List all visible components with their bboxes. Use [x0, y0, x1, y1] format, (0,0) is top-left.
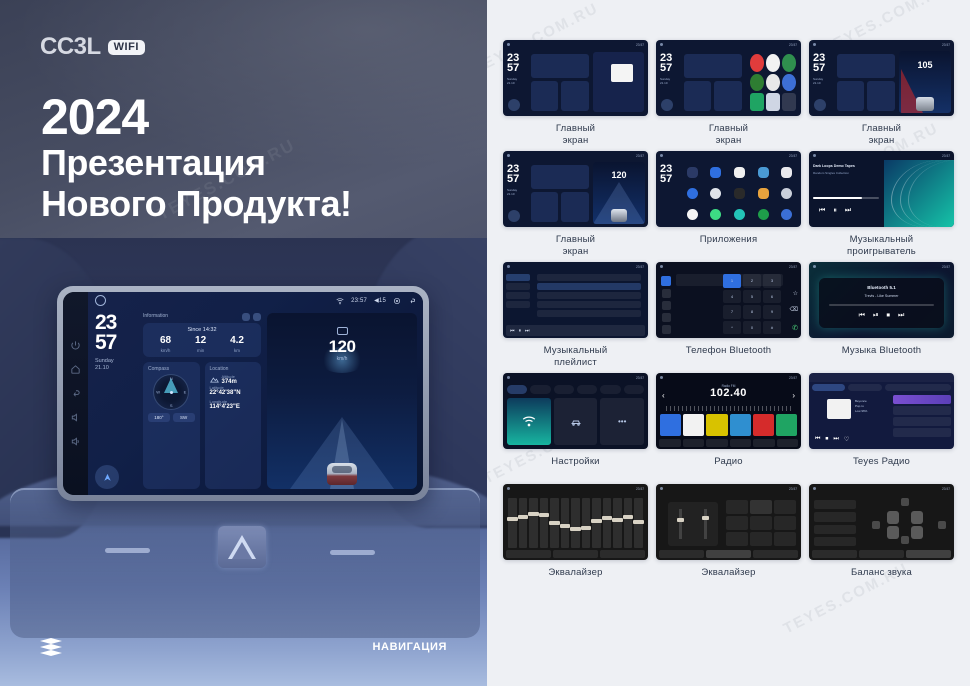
preset-button[interactable] — [774, 500, 796, 514]
app-icon[interactable] — [710, 188, 721, 199]
stop-icon: ⏹ — [887, 312, 891, 320]
key[interactable]: 4 — [723, 290, 741, 304]
app-icon[interactable] — [710, 167, 721, 178]
navigation-label: НАВИГАЦИЯ — [373, 641, 447, 653]
app-icon[interactable] — [687, 188, 698, 199]
volume-down-icon[interactable] — [70, 412, 81, 423]
stat-item: 68 km/h — [160, 336, 171, 353]
bt-track: Trevls - Like Summer — [819, 294, 944, 298]
speed-value: 105 — [917, 60, 932, 70]
location-label: Location — [210, 366, 257, 372]
eq-sliders[interactable] — [668, 502, 718, 546]
speed-value: 120 — [611, 170, 626, 180]
balance-right-button[interactable] — [938, 521, 946, 529]
gallery-item[interactable]: 23:57 2357 — [656, 151, 801, 258]
key[interactable]: # — [763, 321, 781, 335]
app-icon[interactable] — [710, 209, 721, 220]
status-time: 23:57 — [351, 298, 367, 304]
location-widget[interactable]: Location Altitude 374m — [205, 362, 262, 489]
equalizer-toolbar[interactable] — [659, 550, 798, 558]
caption: Приложения — [700, 234, 758, 258]
since-label: Since 14:32 — [148, 327, 256, 333]
seat-front-left — [887, 511, 899, 524]
preset[interactable] — [660, 414, 681, 436]
stat-unit: km — [230, 348, 244, 353]
stat-item: 12 min — [195, 336, 206, 353]
wifi-tile[interactable] — [507, 398, 551, 445]
wifi-badge: WIFI — [108, 40, 145, 55]
gallery-item[interactable]: 23:57 — [656, 484, 801, 591]
radio-frequency: 102.40 — [656, 387, 801, 399]
next-icon: ⏭ — [898, 312, 904, 320]
app-icon[interactable] — [758, 167, 769, 178]
radio-toolbar[interactable] — [659, 439, 798, 447]
volume-up-icon[interactable] — [70, 436, 81, 447]
thumbnail-home-apps[interactable]: 23:57 2357 Sunday21.10 — [656, 40, 801, 116]
key[interactable]: 1 — [723, 274, 741, 288]
album-art — [827, 399, 851, 419]
preset[interactable] — [706, 414, 727, 436]
compass-mark-w: W — [156, 390, 160, 395]
seat-rear-right — [911, 526, 923, 539]
caption: Музыкальныйпроигрыватель — [847, 234, 916, 258]
key[interactable]: 5 — [743, 290, 761, 304]
favorite-icon[interactable]: ☆ — [793, 290, 798, 297]
eq-band[interactable] — [540, 498, 549, 548]
key[interactable]: 8 — [743, 305, 761, 319]
previous-icon: ⏮ — [859, 312, 865, 320]
gallery-item[interactable]: 23:57 1 2 3 4 5 6 — [656, 262, 801, 369]
caption: Музыкальныйплейлист — [544, 345, 608, 369]
previous-icon: ⏮ — [510, 328, 515, 334]
navigation-shortcut-button[interactable] — [95, 465, 119, 489]
thumbnail-home-nav[interactable]: 23:57 2357 Sunday21.10 120 — [503, 151, 648, 227]
eq-band[interactable] — [571, 498, 580, 548]
playlist-rows[interactable] — [537, 274, 645, 324]
app-icon[interactable] — [781, 167, 792, 178]
hazard-button[interactable] — [218, 526, 266, 568]
layers-icon[interactable] — [40, 638, 62, 656]
expand-icon[interactable] — [253, 313, 261, 321]
gallery-item[interactable]: 23:57 2357 Sunday21.10 Главныйэкран — [656, 40, 801, 147]
settings-icon[interactable] — [393, 297, 401, 305]
settings-icon[interactable] — [662, 325, 671, 334]
preset-button[interactable] — [750, 516, 772, 530]
latitude-value: 22°42'38"N — [210, 390, 257, 396]
mini-player[interactable]: ⏮⏸⏭ — [506, 325, 645, 336]
play-pause-icon: ⏯ — [873, 312, 879, 320]
stat-value: 68 — [160, 336, 171, 346]
app-icon[interactable] — [734, 188, 745, 199]
clock-minutes: 57 — [95, 333, 137, 353]
preset[interactable] — [730, 414, 751, 436]
clock-hours: 23 — [95, 313, 137, 333]
app-icon[interactable] — [758, 188, 769, 199]
track-title: Dark Loops Demo Tapes — [813, 164, 879, 168]
thumbnail-bt-music[interactable]: 23:57 Bluetooth 5.1 Trevls - Like Summer… — [809, 262, 954, 338]
balance-up-button[interactable] — [901, 498, 909, 506]
playback-controls[interactable]: ⏮⏹⏭♡ — [815, 436, 849, 443]
caption: Телефон Bluetooth — [686, 345, 772, 369]
stat-value: 4.2 — [230, 336, 244, 346]
eq-band[interactable] — [550, 498, 559, 548]
playlist-sidebar[interactable] — [506, 274, 534, 324]
thumbnail-app-drawer[interactable]: 23:57 2357 — [656, 151, 801, 227]
car-settings-tile[interactable] — [554, 398, 598, 445]
driving-view-widget[interactable]: 120 km/h — [267, 313, 417, 489]
thumbnail-music-player[interactable]: 23:57 Dark Loops Demo Tapes Random Singl… — [809, 151, 954, 227]
headline-year: 2024 — [41, 92, 352, 143]
mountain-icon — [210, 376, 219, 383]
key[interactable]: 3 — [763, 274, 781, 288]
teyes-list[interactable] — [893, 395, 951, 446]
eq-band[interactable] — [592, 498, 601, 548]
pause-icon[interactable]: ⏸ — [833, 207, 837, 215]
presentation-slide: TEYES.COM.RU TEYES.COM.RU TEYES.COM.RU C… — [0, 0, 970, 686]
compass-direction: SW — [173, 413, 195, 422]
preset[interactable] — [753, 414, 774, 436]
gallery-item[interactable]: 23:57 Dark Loops Demo Tapes Random Singl… — [809, 151, 954, 258]
information-widget: Information Since 14:32 — [143, 313, 261, 357]
speed-unit: km/h — [267, 356, 417, 362]
equalizer-toolbar[interactable] — [506, 550, 645, 558]
gallery-item[interactable]: 23:57 — [503, 484, 648, 591]
teyes-tabs[interactable] — [812, 384, 951, 391]
eq-band[interactable] — [519, 498, 528, 548]
call-log-icon[interactable] — [662, 313, 671, 322]
thumbnail-teyes-radio[interactable]: BeyoncePop.ruLow 96% ⏮⏹⏭♡ — [809, 373, 954, 449]
preset-button[interactable] — [726, 532, 748, 546]
eq-band[interactable] — [561, 498, 570, 548]
clock-widget: 23 57 Sunday 21.10 — [95, 313, 137, 489]
caption: Teyes Радио — [853, 456, 910, 480]
preset[interactable] — [683, 414, 704, 436]
thumbnail-sound-balance[interactable]: 23:57 — [809, 484, 954, 560]
eq-band[interactable] — [634, 498, 643, 548]
gallery-item[interactable]: 23:57 2357 Sunday21.10 Главныйэкран — [503, 40, 648, 147]
eq-band[interactable] — [603, 498, 612, 548]
clock-day: Sunday — [95, 358, 137, 365]
app-icon[interactable] — [734, 167, 745, 178]
dialpad-icon[interactable] — [661, 276, 671, 286]
eq-band[interactable] — [613, 498, 622, 548]
thumbnail-home-drive[interactable]: 23:57 2357 Sunday21.10 105 — [809, 40, 954, 116]
key[interactable]: 9 — [763, 305, 781, 319]
status-bar: 23:57 ◀15 — [88, 292, 423, 309]
balance-toolbar[interactable] — [812, 550, 951, 558]
visualizer — [884, 160, 954, 227]
next-icon: ⏭ — [833, 436, 838, 443]
car-interior: 23:57 ◀15 23 57 Sunday — [0, 238, 487, 686]
caption: Настройки — [551, 456, 599, 480]
head-unit-device: 23:57 ◀15 23 57 Sunday — [57, 286, 429, 501]
gallery-item[interactable]: 23:57 Bluetooth 5.1 Trevls - Like Summer… — [809, 262, 954, 369]
preset-button[interactable] — [774, 516, 796, 530]
headline-line2: Нового Продукта! — [41, 184, 352, 225]
balance-options[interactable] — [814, 500, 856, 546]
gallery-item[interactable]: 23:57 Radio FM 102.40 ‹ › — [656, 373, 801, 480]
navigation-shortcut-button[interactable] — [508, 99, 520, 111]
key[interactable]: 0 — [743, 321, 761, 335]
gallery-item[interactable]: BeyoncePop.ruLow 96% ⏮⏹⏭♡ Teyes Радио — [809, 373, 954, 480]
compass-mark-e: E — [184, 390, 187, 395]
compass-dial: N E S W — [153, 374, 189, 410]
progress-bar[interactable] — [813, 197, 862, 199]
speed-value: 120 — [267, 338, 417, 355]
compass-mark-n: N — [170, 376, 173, 381]
clock-date: 21.10 — [95, 365, 137, 372]
headline-line1: Презентация — [41, 143, 352, 184]
drawer-clock: 2357 — [660, 164, 672, 185]
headline: 2024 Презентация Нового Продукта! — [41, 92, 352, 224]
caption: Главныйэкран — [709, 123, 748, 147]
balance-pad[interactable] — [870, 498, 948, 548]
previous-station-icon[interactable]: ‹ — [662, 391, 665, 400]
gallery-item[interactable]: 23:57 ⏮⏸⏭ Музыкальныйплейлист — [503, 262, 648, 369]
app-icon[interactable] — [781, 209, 792, 220]
preset-button[interactable] — [726, 516, 748, 530]
playback-controls[interactable]: ⏮⏯⏹⏭ — [819, 312, 944, 320]
caption: Эквалайзер — [701, 567, 755, 591]
home-icon[interactable] — [70, 364, 81, 375]
eq-band[interactable] — [529, 498, 538, 548]
hazard-triangle-inner — [232, 542, 252, 559]
app-icon[interactable] — [687, 209, 698, 220]
thumbnail-equalizer-presets[interactable]: 23:57 — [656, 484, 801, 560]
navigation-shortcut-button[interactable] — [661, 99, 673, 111]
compass-heading: 180° — [148, 413, 170, 422]
seat-front-right — [911, 511, 923, 524]
tuner-scale[interactable] — [666, 406, 791, 411]
preset[interactable] — [776, 414, 797, 436]
settings-tabs[interactable] — [507, 385, 644, 394]
balance-down-button[interactable] — [901, 536, 909, 544]
bt-title: Bluetooth 5.1 — [819, 285, 944, 290]
backspace-icon[interactable]: ⌫ — [790, 306, 798, 313]
hero-panel: TEYES.COM.RU TEYES.COM.RU TEYES.COM.RU C… — [0, 0, 487, 686]
stat-value: 12 — [195, 336, 206, 346]
longitude-value: 114°4'23"E — [210, 404, 257, 410]
hero-footer: НАВИГАЦИЯ — [0, 632, 487, 662]
information-label: Information — [143, 313, 168, 319]
thumbnail-playlist[interactable]: 23:57 ⏮⏸⏭ — [503, 262, 648, 338]
thumbnail-radio[interactable]: 23:57 Radio FM 102.40 ‹ › — [656, 373, 801, 449]
caption: Главныйэкран — [556, 234, 595, 258]
wifi-icon — [522, 416, 536, 427]
gallery-item[interactable]: 23:57 — [503, 373, 648, 480]
back-icon[interactable] — [70, 388, 81, 399]
app-icon[interactable] — [734, 209, 745, 220]
caption: Радио — [714, 456, 742, 480]
phone-nav[interactable] — [659, 274, 673, 335]
progress-bar[interactable] — [829, 304, 934, 306]
thumbnail-equalizer-bands[interactable]: 23:57 — [503, 484, 648, 560]
gallery-grid: 23:57 2357 Sunday21.10 Главныйэкран 23:5… — [487, 0, 970, 591]
product-logo: CC3L WIFI — [40, 33, 145, 61]
logo-text: CC3L — [40, 33, 101, 61]
compass-label: Compass — [148, 366, 195, 372]
caption: Эквалайзер — [548, 567, 602, 591]
status-volume: ◀15 — [374, 297, 386, 304]
previous-icon[interactable]: ⏮ — [819, 207, 825, 215]
thumbnail-settings[interactable]: 23:57 — [503, 373, 648, 449]
eq-band[interactable] — [508, 498, 517, 548]
navigation-arrow-icon — [102, 472, 113, 483]
gallery-item[interactable]: 23:57 — [809, 484, 954, 591]
key[interactable]: 2 — [743, 274, 761, 288]
preset-button[interactable] — [726, 500, 748, 514]
dial-keypad[interactable]: 1 2 3 4 5 6 7 8 9 * 0 # — [723, 274, 781, 334]
stop-icon: ⏹ — [825, 436, 828, 443]
key[interactable]: 7 — [723, 305, 741, 319]
previous-icon: ⏮ — [815, 436, 820, 443]
app-icon[interactable] — [781, 188, 792, 199]
screenshot-gallery: TEYES.COM.RU TEYES.COM.RU TEYES.COM.RU T… — [487, 0, 970, 686]
eq-preset-grid[interactable] — [726, 500, 796, 546]
app-icon-grid[interactable] — [682, 163, 797, 223]
key[interactable]: 6 — [763, 290, 781, 304]
thumbnail-home-music[interactable]: 23:57 2357 Sunday21.10 — [503, 40, 648, 116]
compass-mark-s: S — [170, 403, 173, 408]
refresh-icon[interactable] — [242, 313, 250, 321]
contacts-icon[interactable] — [662, 289, 671, 298]
home-icon[interactable] — [95, 295, 106, 306]
search-icon[interactable] — [662, 301, 671, 310]
key[interactable]: * — [723, 321, 741, 335]
next-station-icon[interactable]: › — [792, 391, 795, 400]
seat-rear-left — [887, 526, 899, 539]
preset-button[interactable] — [750, 532, 772, 546]
hd-icon — [337, 327, 348, 335]
balance-left-button[interactable] — [872, 521, 880, 529]
thumbnail-bt-phone[interactable]: 23:57 1 2 3 4 5 6 — [656, 262, 801, 338]
call-icon[interactable]: ✆ — [792, 324, 798, 332]
app-icon[interactable] — [687, 167, 698, 178]
car-3d-model — [327, 463, 357, 485]
caption: Главныйэкран — [556, 123, 595, 147]
preset-button[interactable] — [774, 532, 796, 546]
more-tile[interactable]: ••• — [600, 398, 644, 445]
compass-widget[interactable]: Compass N E S W — [143, 362, 200, 489]
gallery-item[interactable]: 23:57 2357 Sunday21.10 105 Главныйэкран — [809, 40, 954, 147]
eq-band[interactable] — [624, 498, 633, 548]
navigation-shortcut-button[interactable] — [814, 99, 826, 111]
back-icon[interactable] — [408, 297, 416, 305]
car-icon — [570, 417, 582, 427]
preset-button[interactable] — [750, 500, 772, 514]
device-bezel — [63, 292, 88, 495]
caption: Главныйэкран — [862, 123, 901, 147]
album-art — [611, 64, 633, 82]
navigation-shortcut-button[interactable] — [508, 210, 520, 222]
pause-icon: ⏸ — [519, 328, 522, 334]
caption: Баланс звука — [851, 567, 912, 591]
eq-band[interactable] — [582, 498, 591, 548]
stat-unit: km/h — [160, 348, 171, 353]
caption: Музыка Bluetooth — [842, 345, 922, 369]
favorite-icon: ♡ — [844, 436, 849, 443]
stat-item: 4.2 km — [230, 336, 244, 353]
next-icon: ⏭ — [525, 328, 530, 334]
next-icon[interactable]: ⏭ — [845, 207, 851, 215]
station-presets[interactable] — [660, 414, 797, 436]
playback-controls[interactable]: ⏮ ⏸ ⏭ — [819, 207, 851, 215]
speed-readout: 120 km/h — [267, 327, 417, 362]
gallery-item[interactable]: 23:57 2357 Sunday21.10 120 Главныйэкран — [503, 151, 648, 258]
app-icon[interactable] — [758, 209, 769, 220]
stat-unit: min — [195, 348, 206, 353]
wifi-icon — [336, 297, 344, 305]
equalizer-bands[interactable] — [508, 498, 643, 548]
head-unit-screen[interactable]: 23:57 ◀15 23 57 Sunday — [88, 292, 423, 495]
power-icon[interactable] — [70, 340, 81, 351]
